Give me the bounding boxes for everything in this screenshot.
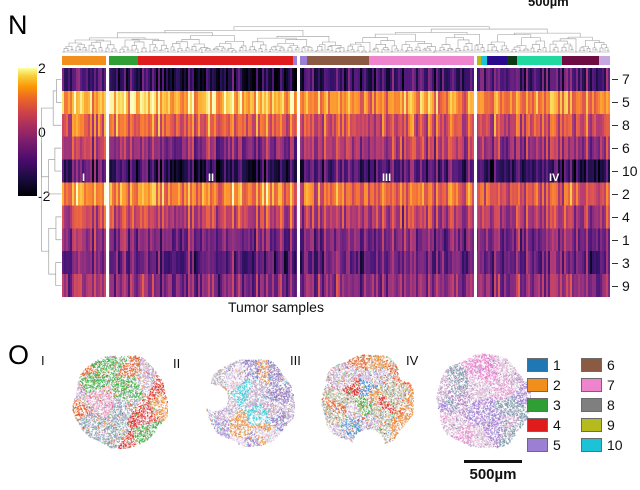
legend-swatch [527, 438, 548, 452]
cluster-label-ii: II [208, 172, 214, 184]
legend-swatch [581, 398, 602, 412]
row-label-9: 9 [622, 278, 630, 294]
cluster-divider [106, 56, 109, 297]
column-dendrogram [62, 14, 610, 54]
core-label-i: I [41, 354, 45, 367]
row-label-10: 10 [622, 163, 638, 179]
cluster-divider [297, 56, 300, 297]
legend-item-5[interactable]: 5 [527, 438, 581, 452]
heatmap-plot-area [62, 68, 610, 297]
figure-root: N 500µm 2 0 -2 IIIIIIIV 75861024139 Tumo… [0, 0, 640, 490]
heatmap-row-labels: 75861024139 [612, 68, 638, 297]
legend-item-2[interactable]: 2 [527, 378, 581, 392]
core-image [205, 357, 295, 447]
x-axis-title: Tumor samples [0, 299, 640, 315]
legend-item-7[interactable]: 7 [581, 378, 635, 392]
legend-label: 8 [607, 398, 615, 412]
row-label-8: 8 [622, 117, 630, 133]
cluster-label-i: I [82, 172, 85, 184]
tissue-core-ii [205, 357, 295, 447]
legend-swatch [581, 378, 602, 392]
legend-item-1[interactable]: 1 [527, 358, 581, 372]
cluster-strip-segment [138, 56, 293, 65]
cluster-strip-segment [507, 56, 516, 65]
row-tick [612, 194, 618, 195]
colorbar-gradient [18, 68, 37, 196]
panel-o-letter: O [8, 342, 29, 369]
legend-item-4[interactable]: 4 [527, 418, 581, 432]
legend-swatch [527, 418, 548, 432]
x-axis-title-text: Tumor samples [228, 299, 324, 315]
legend-item-6[interactable]: 6 [581, 358, 635, 372]
cluster-strip-segment [599, 56, 609, 65]
row-tick [612, 217, 618, 218]
legend-item-9[interactable]: 9 [581, 418, 635, 432]
row-tick [612, 286, 618, 287]
tissue-core-iii [320, 353, 414, 447]
core-image [320, 353, 414, 447]
legend-label: 7 [607, 378, 615, 392]
row-tick [612, 263, 618, 264]
row-tick [612, 125, 618, 126]
cluster-label-iii: III [382, 172, 391, 184]
cluster-strip-segment [307, 56, 369, 65]
legend-label: 3 [553, 398, 561, 412]
legend-swatch [581, 418, 602, 432]
cluster-label-iv: IV [549, 172, 559, 184]
legend-item-10[interactable]: 10 [581, 438, 635, 452]
cluster-strip-segment [62, 56, 109, 65]
legend-swatch [527, 378, 548, 392]
cluster-strip-segment [487, 56, 507, 65]
panel-n-heatmap: N 500µm 2 0 -2 IIIIIIIV 75861024139 Tumo… [0, 0, 640, 325]
top-scalebar-label: 500µm [528, 0, 569, 9]
cluster-legend: 16273849510 [527, 355, 635, 459]
legend-swatch [527, 398, 548, 412]
row-tick [612, 171, 618, 172]
core-label-ii: II [173, 357, 180, 370]
row-label-7: 7 [622, 71, 630, 87]
cluster-annotation-strip [62, 56, 610, 65]
row-label-3: 3 [622, 255, 630, 271]
core-image [72, 353, 168, 449]
row-tick [612, 240, 618, 241]
cluster-strip-segment [369, 56, 475, 65]
legend-item-3[interactable]: 3 [527, 398, 581, 412]
legend-label: 4 [553, 418, 561, 432]
legend-swatch [527, 358, 548, 372]
panel-n-letter: N [8, 12, 28, 39]
row-dendrogram [40, 68, 62, 297]
row-label-2: 2 [622, 186, 630, 202]
cluster-divider [474, 56, 477, 297]
row-label-5: 5 [622, 94, 630, 110]
legend-swatch [581, 438, 602, 452]
heatmap-canvas [62, 68, 610, 297]
row-tick [612, 102, 618, 103]
legend-item-8[interactable]: 8 [581, 398, 635, 412]
tissue-core-i [72, 353, 168, 449]
legend-label: 9 [607, 418, 615, 432]
legend-label: 5 [553, 438, 561, 452]
legend-swatch [581, 358, 602, 372]
row-tick [612, 148, 618, 149]
row-tick [612, 79, 618, 80]
row-label-1: 1 [622, 232, 630, 248]
legend-label: 1 [553, 358, 561, 372]
core-label-iv: IV [406, 354, 418, 367]
legend-label: 2 [553, 378, 561, 392]
legend-label: 6 [607, 358, 615, 372]
cluster-strip-segment [517, 56, 562, 65]
cluster-strip-segment [109, 56, 139, 65]
row-label-4: 4 [622, 209, 630, 225]
panel-o-cores: O IIIIIIIV 16273849510 500µm [0, 325, 640, 490]
core-image [435, 353, 531, 449]
scalebar-label: 500µm [441, 466, 545, 483]
tissue-core-iv [435, 353, 531, 449]
core-label-iii: III [290, 354, 301, 367]
scalebar-line [464, 460, 522, 463]
row-label-6: 6 [622, 140, 630, 156]
legend-label: 10 [607, 438, 623, 452]
cluster-strip-segment [562, 56, 599, 65]
